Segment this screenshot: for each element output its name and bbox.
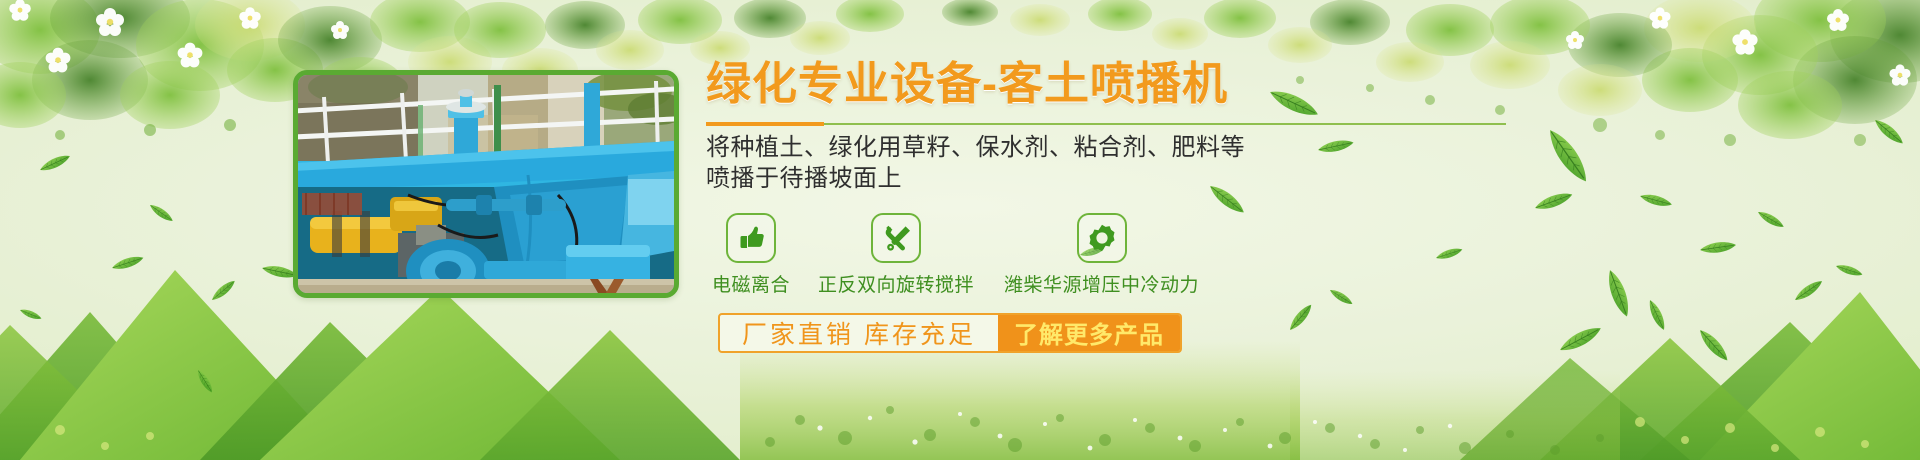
feature-label-3: 潍柴华源增压中冷动力 <box>1004 270 1199 297</box>
banner-title: 绿化专业设备-客土喷播机 <box>706 60 1586 109</box>
subtitle-line-2: 喷播于待播坡面上 <box>706 165 902 192</box>
divider-base <box>706 123 1506 125</box>
gear-ring-icon <box>1077 213 1127 263</box>
feature-item-1[interactable]: 电磁离合 <box>712 213 790 297</box>
learn-more-button[interactable]: 了解更多产品 <box>998 315 1180 351</box>
subtitle-line-1: 将种植土、绿化用草籽、保水剂、粘合剂、肥料等 <box>706 134 1245 161</box>
product-photo <box>298 75 674 293</box>
feature-label-2: 正反双向旋转搅拌 <box>818 270 974 297</box>
banner-subtitle: 将种植土、绿化用草籽、保水剂、粘合剂、肥料等 喷播于待播坡面上 <box>706 132 1586 195</box>
feature-item-2[interactable]: 正反双向旋转搅拌 <box>818 213 974 297</box>
banner-content: 绿化专业设备-客土喷播机 将种植土、绿化用草籽、保水剂、粘合剂、肥料等 喷播于待… <box>706 60 1586 353</box>
feature-label-1: 电磁离合 <box>712 270 790 297</box>
feature-list: 电磁离合 正反双向旋转搅拌 <box>706 213 1586 297</box>
thumbs-up-icon <box>726 213 776 263</box>
cta-bar: 厂家直销 库存充足 了解更多产品 <box>718 313 1182 353</box>
product-photo-frame[interactable] <box>293 70 679 298</box>
cta-slogan: 厂家直销 库存充足 <box>720 315 998 351</box>
promo-banner: 绿化专业设备-客土喷播机 将种植土、绿化用草籽、保水剂、粘合剂、肥料等 喷播于待… <box>0 0 1920 460</box>
tools-icon <box>871 213 921 263</box>
title-divider <box>706 119 1506 128</box>
divider-accent <box>706 122 824 126</box>
feature-item-3[interactable]: 潍柴华源增压中冷动力 <box>1004 213 1199 297</box>
